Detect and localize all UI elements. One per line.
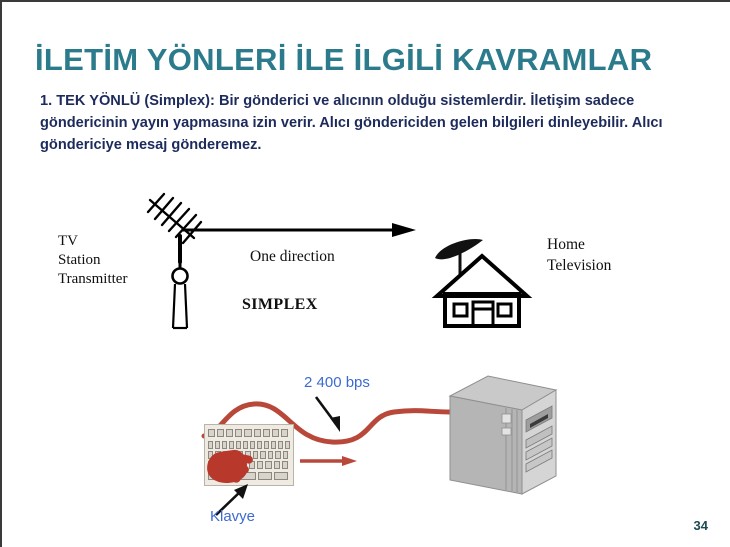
cable-direction-arrow-icon (300, 454, 358, 468)
house-with-antenna-icon (427, 234, 537, 329)
page-number: 34 (694, 518, 708, 533)
body-paragraph: 1. TEK YÖNLÜ (Simplex): Bir gönderici ve… (40, 90, 680, 156)
keyboard-with-hand-icon (204, 424, 294, 486)
page-title: İLETİM YÖNLERİ İLE İLGİLİ KAVRAMLAR (35, 42, 652, 78)
direction-label: One direction (250, 247, 335, 266)
body-lead: 1. TEK YÖNLÜ (Simplex): (40, 93, 215, 109)
simplex-mode-label: SIMPLEX (242, 295, 318, 314)
keyboard-label: Klavye (210, 508, 255, 525)
transmitter-label: TV Station Transmitter (58, 232, 127, 289)
simplex-diagram: TV Station Transmitter (42, 192, 702, 342)
computer-tower-icon (444, 372, 564, 502)
presentation-slide: İLETİM YÖNLERİ İLE İLGİLİ KAVRAMLAR 1. T… (0, 0, 730, 547)
speed-label: 2 400 bps (304, 374, 370, 391)
roof-antenna-icon (435, 239, 483, 274)
right-arrow-icon (182, 222, 417, 238)
keyboard-link-diagram: 2 400 bps (182, 362, 582, 547)
receiver-label: Home Television (547, 234, 611, 276)
tv-antenna-tower-icon (142, 192, 232, 332)
antenna-rotator-icon (173, 269, 188, 284)
